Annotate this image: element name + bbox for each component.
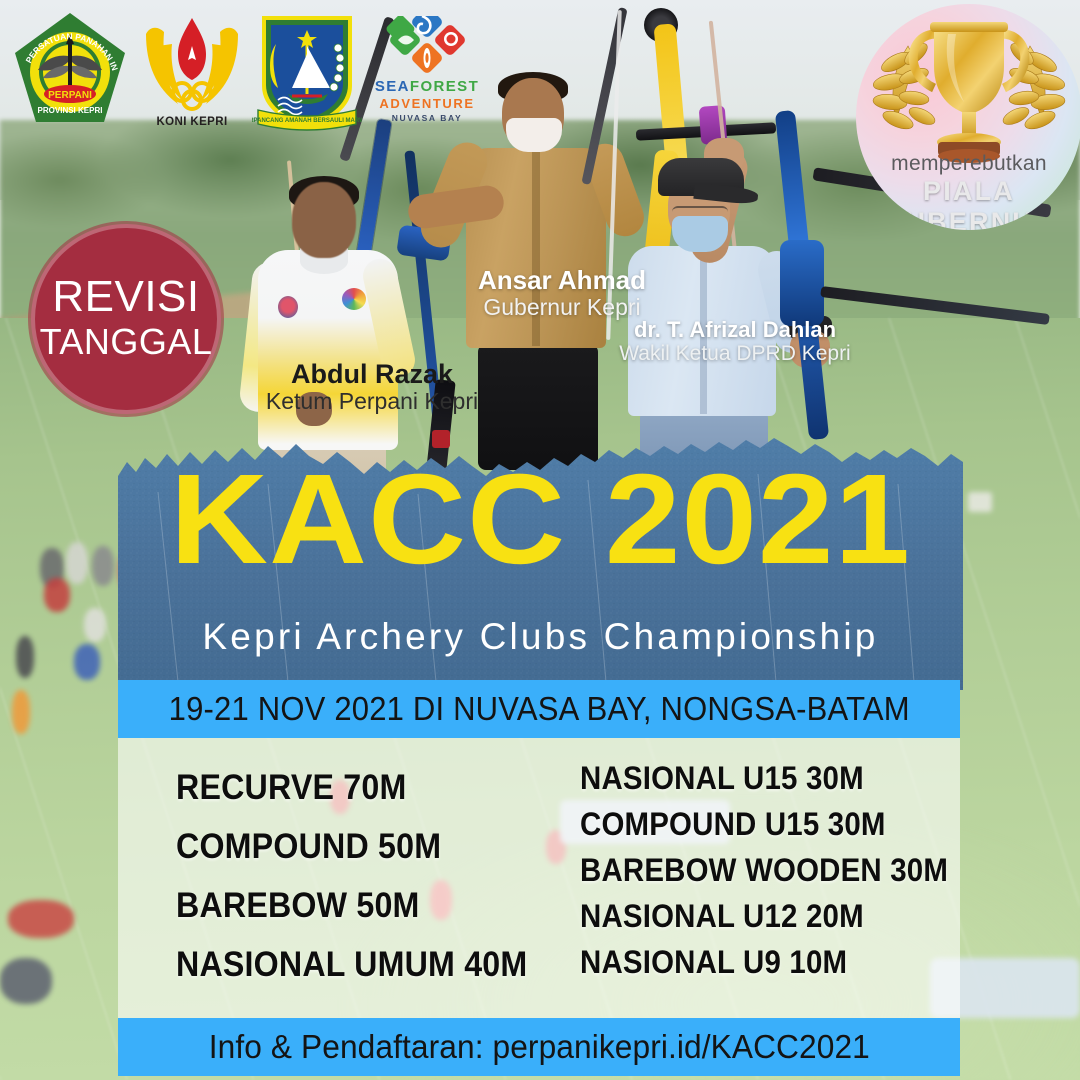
torn-paper-title-panel: KACC 2021 Kepri Archery Clubs Championsh… — [118, 432, 963, 690]
categories-panel: RECURVE 70M COMPOUND 50M BAREBOW 50M NAS… — [118, 738, 960, 1018]
categories-column-left: RECURVE 70M COMPOUND 50M BAREBOW 50M NAS… — [118, 752, 558, 1018]
category-item: NASIONAL U15 30M — [580, 762, 948, 794]
kepri-province-emblem: BERPANCANG AMANAH BERSAULI MARWAH — [252, 10, 362, 136]
seaforest-nuvasa-bay: NUVASA BAY — [372, 113, 482, 123]
person-label-afrizal-dahlan: dr. T. Afrizal Dahlan Wakil Ketua DPRD K… — [580, 318, 890, 366]
crowd-blob — [12, 690, 30, 734]
koni-logo-label: KONI KEPRI — [138, 116, 246, 128]
category-item: COMPOUND 50M — [176, 829, 527, 864]
category-item: BAREBOW WOODEN 30M — [580, 854, 948, 886]
category-item: NASIONAL UMUM 40M — [176, 947, 527, 982]
crowd-blob — [44, 578, 70, 612]
svg-text:PROVINSI KEPRI: PROVINSI KEPRI — [38, 106, 103, 115]
page-title: KACC 2021 — [93, 456, 989, 584]
person-label-ansar-ahmad: Ansar Ahmad Gubernur Kepri — [452, 267, 672, 322]
crowd-blob — [84, 608, 106, 642]
shirt-badge — [278, 296, 298, 318]
category-item: NASIONAL U12 20M — [580, 900, 948, 932]
registration-info-bar[interactable]: Info & Pendaftaran: perpanikepri.id/KACC… — [118, 1018, 960, 1076]
date-location-text: 19-21 NOV 2021 DI NUVASA BAY, NONGSA-BAT… — [168, 690, 909, 728]
trophy-badge-line1: memperebutkan — [856, 152, 1080, 176]
crowd-blob — [66, 542, 88, 584]
crowd-blob — [8, 900, 74, 938]
sponsor-logo-row: PERPANI PROVINSI KEPRI PERSATUAN PANAHAN… — [0, 0, 500, 150]
crowd-blob — [16, 636, 34, 678]
perpani-kepri-logo: PERPANI PROVINSI KEPRI PERSATUAN PANAHAN… — [12, 10, 128, 134]
revisi-line1: REVISI — [52, 275, 199, 319]
categories-column-right: NASIONAL U15 30M COMPOUND U15 30M BAREBO… — [558, 752, 980, 1018]
category-item: COMPOUND U15 30M — [580, 808, 948, 840]
person-label-abdul-razak: Abdul Razak Ketum Perpani Kepri — [252, 360, 492, 416]
seaforest-adventure-logo: SEAFOREST ADVENTURE NUVASA BAY — [372, 16, 482, 128]
revisi-line2: TANGGAL — [40, 319, 213, 364]
crowd-blob — [74, 644, 100, 680]
page-subtitle: Kepri Archery Clubs Championship — [118, 616, 963, 658]
trophy-badge: memperebutkan PIALA GUBERNUR — [856, 4, 1080, 230]
revisi-tanggal-badge: REVISI TANGGAL — [31, 224, 221, 414]
svg-text:PERPANI: PERPANI — [48, 90, 92, 101]
person-name: Abdul Razak — [252, 360, 492, 388]
person-name: Ansar Ahmad — [452, 267, 672, 294]
person-name: dr. T. Afrizal Dahlan — [580, 318, 890, 341]
person-role: Ketum Perpani Kepri — [252, 388, 492, 416]
seaforest-forest: FOREST — [410, 78, 479, 95]
koni-kepri-logo: KONI KEPRI — [138, 12, 246, 132]
svg-text:BERPANCANG AMANAH BERSAULI MAR: BERPANCANG AMANAH BERSAULI MARWAH — [252, 118, 362, 124]
registration-info-text[interactable]: Info & Pendaftaran: perpanikepri.id/KACC… — [208, 1028, 869, 1066]
face-mask-icon — [506, 118, 562, 152]
bow-riser-right — [780, 240, 824, 326]
category-item: RECURVE 70M — [176, 770, 527, 805]
seaforest-sea: SEA — [375, 78, 410, 95]
category-item: NASIONAL U9 10M — [580, 946, 948, 978]
person-head — [292, 182, 356, 258]
category-item: BAREBOW 50M — [176, 888, 527, 923]
poster-root: PERPANI PROVINSI KEPRI PERSATUAN PANAHAN… — [0, 0, 1080, 1080]
crowd-blob — [0, 958, 52, 1004]
seaforest-wordmark: SEAFOREST — [372, 78, 482, 95]
seaforest-adventure: ADVENTURE — [372, 96, 482, 111]
shirt-badge — [342, 288, 366, 310]
info-panels: 19-21 NOV 2021 DI NUVASA BAY, NONGSA-BAT… — [118, 680, 960, 1080]
date-location-bar: 19-21 NOV 2021 DI NUVASA BAY, NONGSA-BAT… — [118, 680, 960, 738]
person-role: Wakil Ketua DPRD Kepri — [580, 341, 890, 366]
face-mask-icon — [672, 216, 728, 252]
trophy-badge-line2: PIALA GUBERNUR — [856, 176, 1080, 230]
